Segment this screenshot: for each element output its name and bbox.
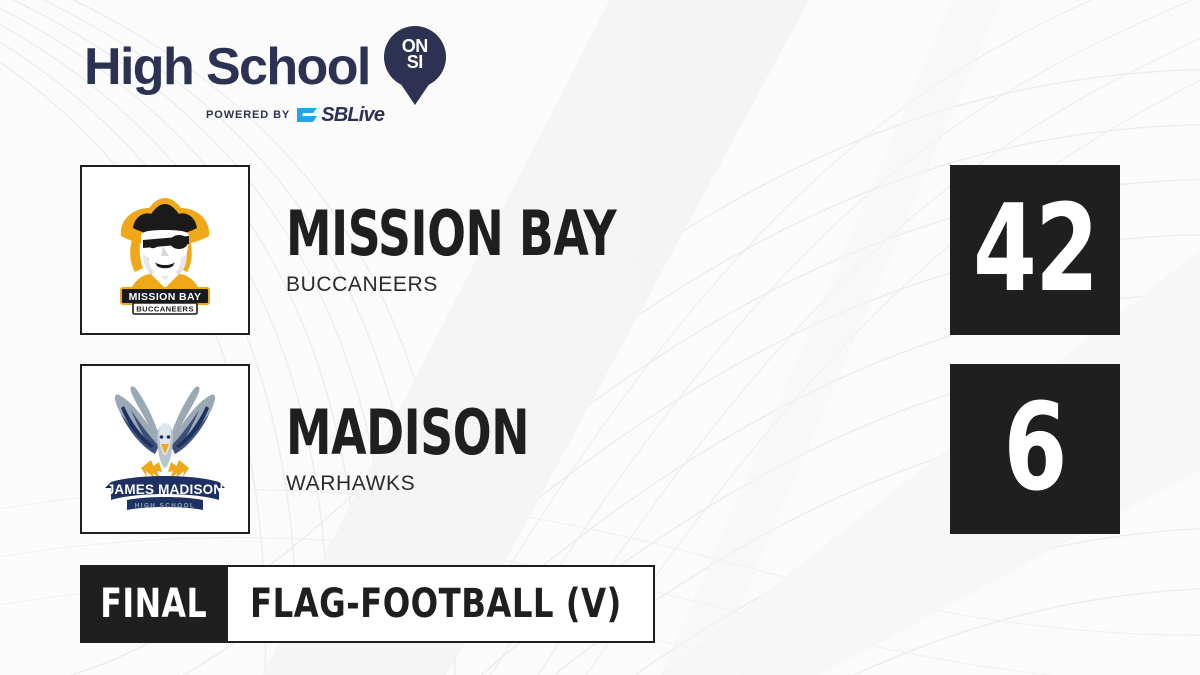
team-name: MISSION BAY: [286, 203, 970, 265]
svg-text:MISSION BAY: MISSION BAY: [129, 291, 202, 303]
on-si-pin-icon: ON SI: [382, 26, 448, 106]
team-score: 6: [1004, 389, 1066, 509]
svg-text:HIGH SCHOOL: HIGH SCHOOL: [135, 503, 196, 510]
game-state-badge: FINAL: [80, 565, 228, 643]
sblive-logo: SBLive: [296, 107, 384, 123]
game-status-bar: FINAL FLAG-FOOTBALL (V): [80, 565, 655, 643]
powered-by-row: POWERED BY SBLive: [206, 107, 514, 123]
team-logo-card: JAMES MADISON HIGH SCHOOL: [80, 364, 250, 534]
team-score-box: 42: [950, 165, 1120, 335]
scoreboard-graphic: High School ON SI POWERED BY: [0, 0, 1200, 675]
team-logo-card: MISSION BAY BUCCANEERS: [80, 165, 250, 335]
on-si-pin-text: ON SI: [382, 38, 448, 70]
team-score: 42: [973, 190, 1097, 310]
pin-line-si: SI: [382, 54, 448, 70]
buccaneer-pirate-logo-icon: MISSION BAY BUCCANEERS: [99, 184, 231, 316]
sblive-wordmark: SBLive: [321, 107, 384, 123]
team-score-box: 6: [950, 364, 1120, 534]
sport-label: FLAG-FOOTBALL (V): [250, 584, 622, 624]
svg-text:JAMES MADISON: JAMES MADISON: [107, 482, 224, 497]
powered-by-label: POWERED BY: [206, 109, 290, 121]
brand-row: High School ON SI: [84, 36, 514, 98]
sport-panel: FLAG-FOOTBALL (V): [228, 565, 655, 643]
game-state-label: FINAL: [101, 584, 208, 624]
sblive-s-mark-icon: [296, 107, 318, 123]
team-name: MADISON: [286, 402, 970, 464]
brand-wordmark: High School: [84, 41, 370, 93]
warhawk-eagle-logo-icon: JAMES MADISON HIGH SCHOOL: [97, 382, 233, 516]
brand-header: High School ON SI POWERED BY: [84, 36, 514, 132]
svg-text:BUCCANEERS: BUCCANEERS: [136, 305, 194, 314]
